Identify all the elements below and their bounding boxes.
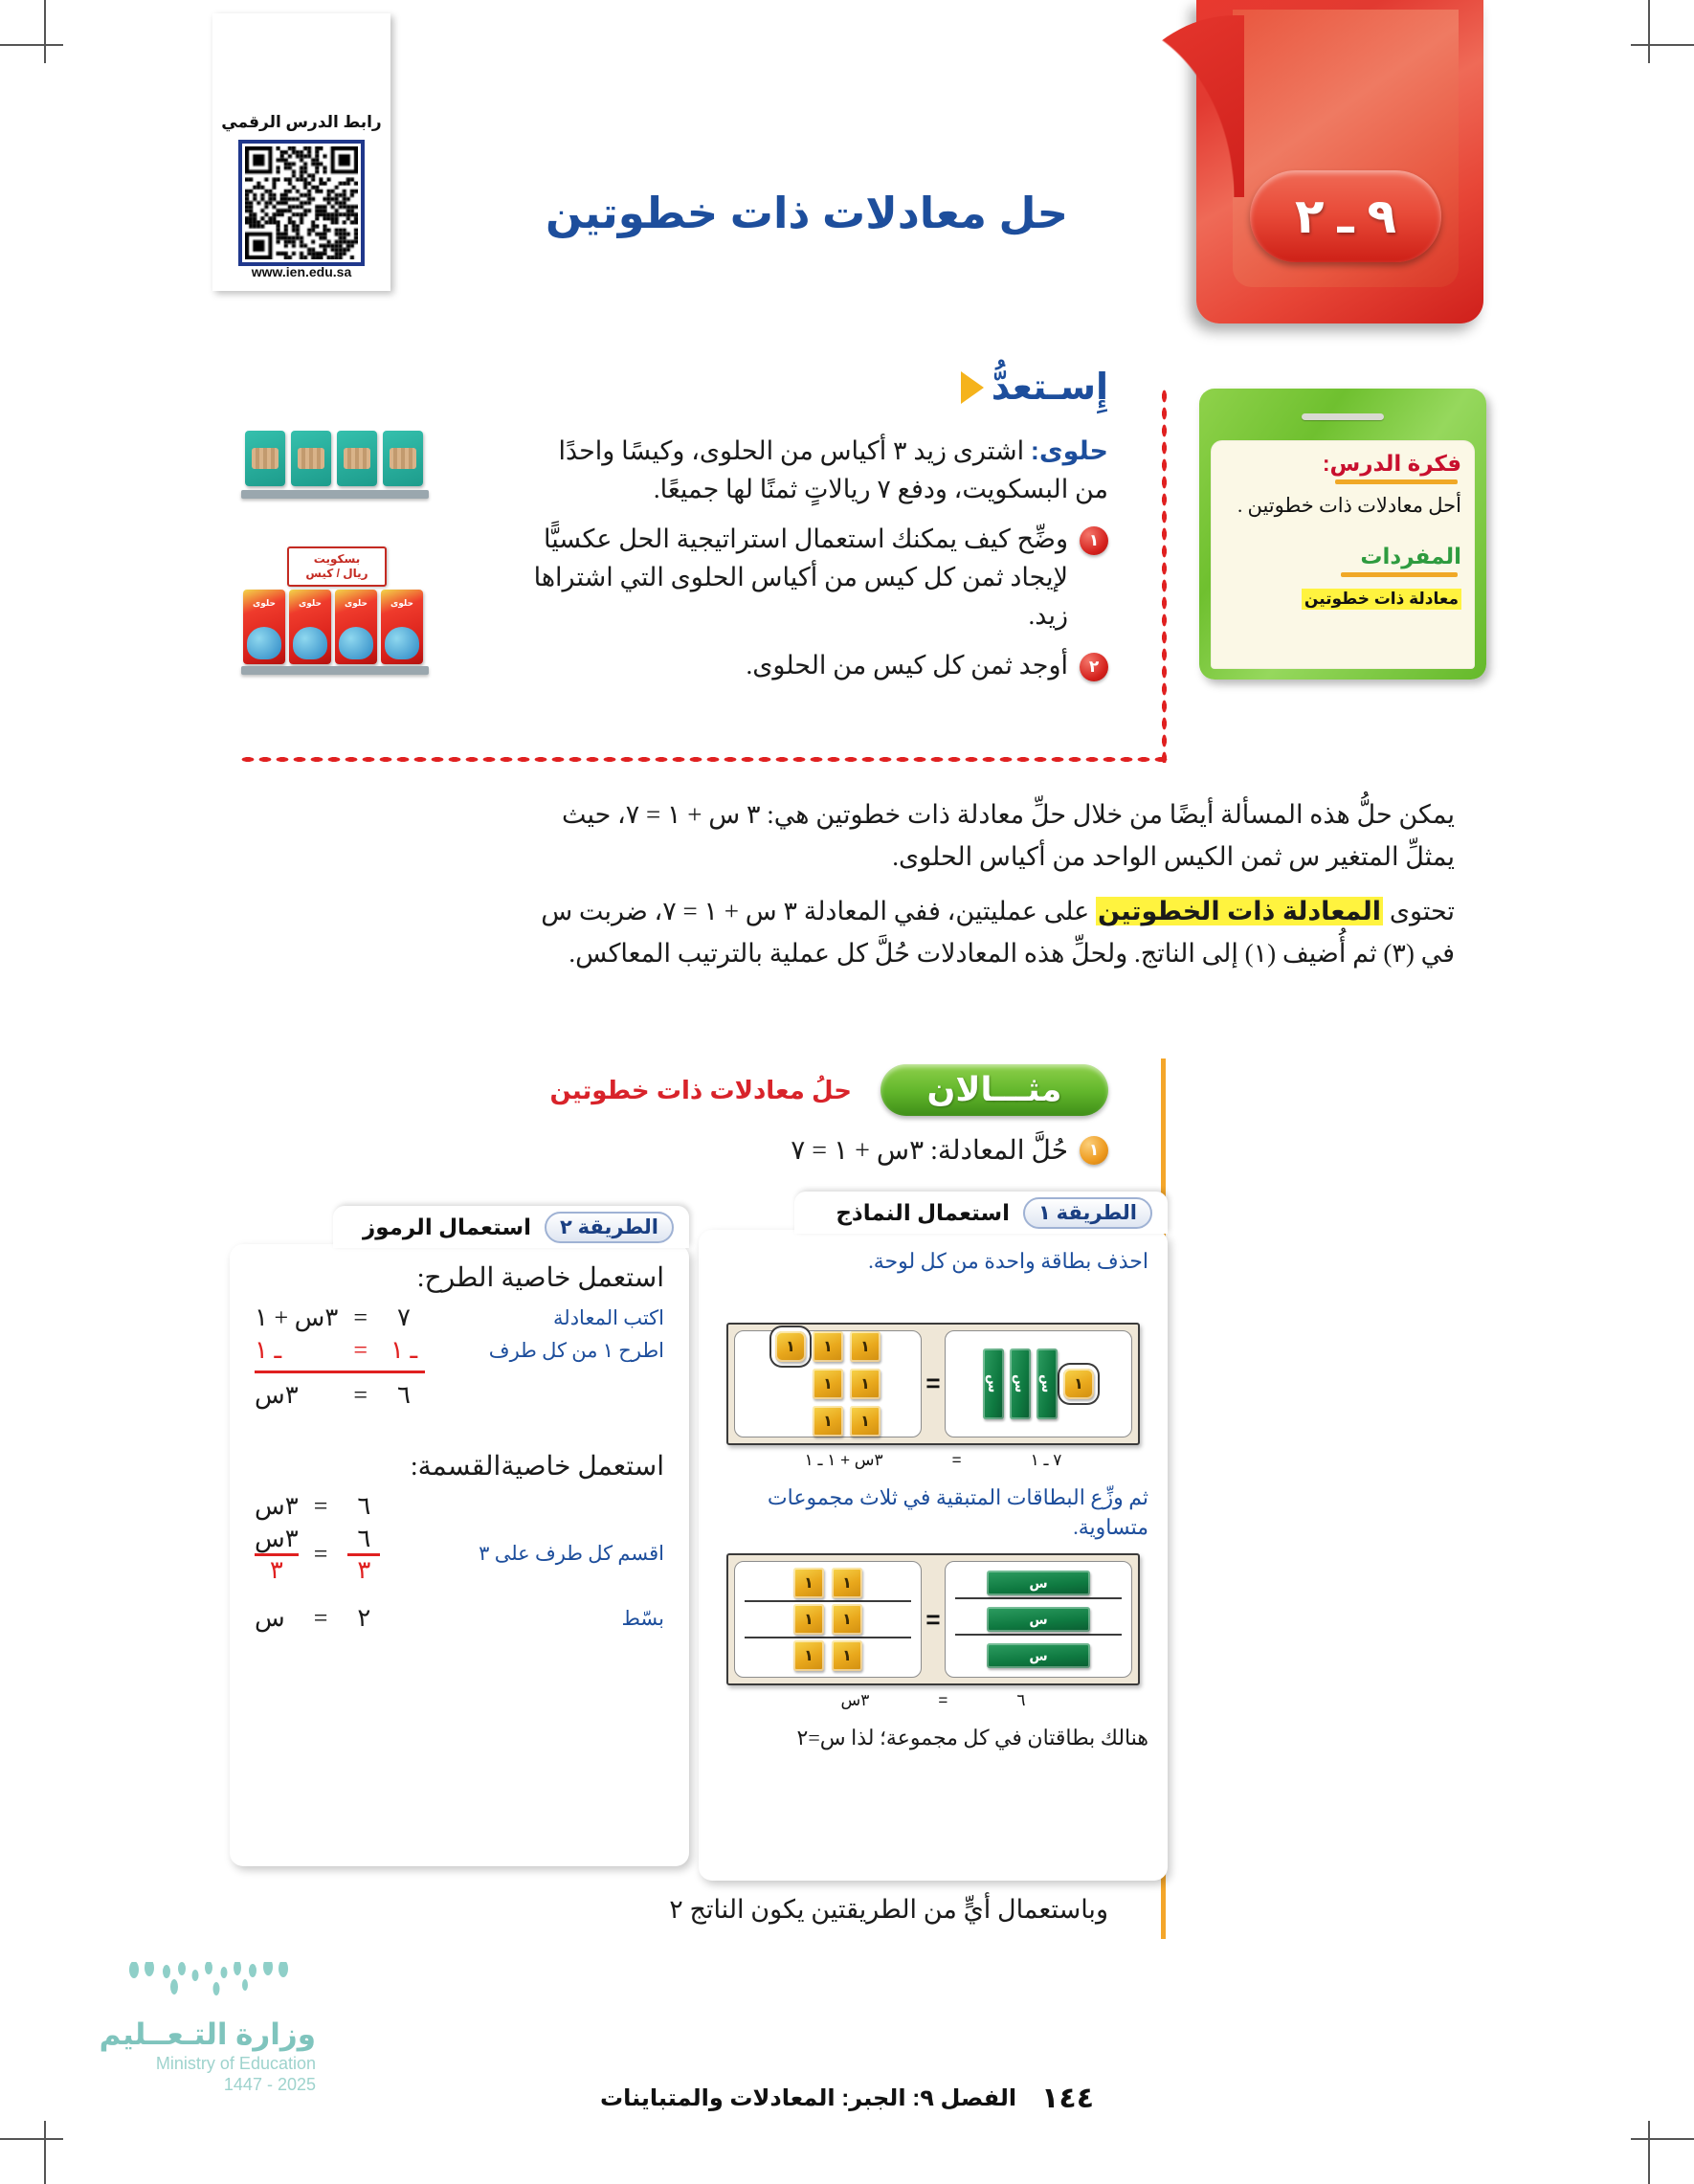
question-bullet-2: ٢ [1080, 653, 1108, 681]
get-ready-title: إِسـتعدُّ [992, 366, 1108, 409]
highlighted-term: المعادلة ذات الخطوتين [1096, 897, 1383, 925]
variable-bar: س [983, 1348, 1004, 1419]
board-2-caption-eq: = [938, 1691, 947, 1710]
board-2-variable-row: س [955, 1569, 1122, 1599]
method-1-tab[interactable]: الطريقة ١ استعمال النماذج [794, 1192, 1168, 1234]
digital-lesson-qr-card: رابط الدرس الرقمي www.ien.edu.sa [212, 13, 390, 291]
lesson-body: يمكن حلُّ هذه المسألة أيضًا من خلال حلِّ… [526, 794, 1455, 989]
step-note: بسّط [400, 1590, 664, 1631]
board-1-caption: ٧ ـ ١ = ٣س + ١ ـ ١ [718, 1451, 1148, 1470]
step-op: = [353, 1381, 368, 1410]
page-title: حل معادلات ذات خطوتين [546, 188, 1081, 238]
step-rhs: ٦ [383, 1381, 425, 1410]
subtraction-steps: اكتب المعادلة ٧ = ٣س + ١ اطرح ١ من كل طر… [255, 1304, 664, 1410]
variable-bar: س [1010, 1348, 1031, 1419]
crop-mark-bottom-right [1648, 2121, 1650, 2184]
method-2-tab[interactable]: الطريقة ٢ استعمال الرموز [333, 1206, 689, 1248]
vocabulary-heading: المفردات [1224, 544, 1461, 569]
problem-text: اشترى زيد ٣ أكياس من الحلوى، وكيسًا واحد… [558, 436, 1108, 503]
vocabulary-underline [1341, 572, 1458, 577]
method-1-title: استعمال النماذج [836, 1200, 1010, 1226]
question-text-2: أوجد ثمن كل كيس من الحلوى. [524, 647, 1068, 685]
method-1-note-2: ثم وزِّع البطاقات المتبقية في ثلاث مجموع… [718, 1483, 1148, 1543]
board-2-equals: = [925, 1605, 940, 1635]
board-2-caption: ٦ = ٣س [718, 1691, 1148, 1710]
board-2-caption-right: ٣س [841, 1691, 870, 1710]
method-1-pill: الطريقة ١ [1023, 1197, 1152, 1229]
question-bullet-1: ١ [1080, 526, 1108, 555]
problem-label: حلوى: [1031, 436, 1108, 465]
get-ready-question-1: ١ وضِّح كيف يمكنك استعمال استراتيجية الح… [524, 521, 1108, 635]
board-1-unit-grid: ١ ١ ١ ١ ١ ١ ١ [775, 1331, 880, 1437]
step-note: اطرح ١ من كل طرف [440, 1339, 664, 1363]
method-1-content: احذف بطاقة واحدة من كل لوحة. ١ س س س = [699, 1230, 1168, 1881]
biscuit-pack [245, 431, 285, 486]
example-1-row: ١ حُلَّ المعادلة: ٣س + ١ = ٧ [791, 1134, 1108, 1167]
step-op: = [353, 1336, 368, 1365]
vocabulary-term: معادلة ذات خطوتين [1302, 589, 1461, 610]
crop-mark-bottom-right-h [1631, 2138, 1694, 2140]
step-lhs-fraction: ٣س ٣ [255, 1525, 299, 1583]
division-steps: ٦ = ٣س اقسم كل طرف على ٣ ٦ ٣ = ٣س ٣ بسّط [255, 1492, 664, 1633]
unit-tile-circled: ١ [775, 1331, 806, 1362]
examples-pill-label: مثـــالان [927, 1071, 1062, 1109]
para2-pre: تحتوى [1383, 897, 1455, 925]
step-rhs: ٦ [343, 1492, 385, 1521]
example-1-bullet: ١ [1080, 1136, 1108, 1165]
balance-board-2: س س س = ١ ١ ١ ١ ١ ١ [726, 1553, 1140, 1685]
question-text-1: وضِّح كيف يمكنك استعمال استراتيجية الحل … [524, 521, 1068, 635]
board-2-caption-left: ٦ [1016, 1691, 1025, 1710]
step-rule [255, 1371, 425, 1373]
candy-bag-label: حلوى [390, 598, 413, 609]
unit-tile: ١ [793, 1604, 824, 1635]
get-ready-content: حلوى: اشترى زيد ٣ أكياس من الحلوى، وكيسً… [524, 433, 1108, 685]
biscuit-pack [291, 431, 331, 486]
board-1-variable-pane: ١ س س س [945, 1330, 1132, 1437]
step-rhs: ٢ [343, 1587, 385, 1633]
board-1-equals: = [925, 1369, 940, 1398]
variable-bar: س [987, 1607, 1090, 1632]
board-2-variable-pane: س س س [945, 1561, 1132, 1678]
lesson-number: ٩ ـ ٢ [1295, 189, 1396, 244]
final-conclusion: وباستعمال أيٍّ من الطريقتين يكون الناتج … [524, 1895, 1108, 1925]
ministry-name-arabic: وزارة التـعــليم [96, 2017, 316, 2052]
body-paragraph-2: تحتوى المعادلة ذات الخطوتين على عمليتين،… [526, 891, 1455, 974]
ministry-name-english: Ministry of Education [96, 2054, 316, 2074]
unit-tile: ١ [850, 1369, 880, 1399]
step-op: = [314, 1540, 328, 1569]
shelf-bar [241, 666, 429, 675]
examples-pill: مثـــالان [880, 1064, 1108, 1116]
step-op: = [314, 1587, 328, 1633]
crop-mark-top-left [44, 0, 46, 63]
lesson-number-badge: ٩ ـ ٢ [1250, 170, 1441, 262]
board-2-variable-row: س [955, 1605, 1122, 1636]
method-1-note-1: احذف بطاقة واحدة من كل لوحة. [718, 1247, 1148, 1277]
step-lhs: س [255, 1587, 299, 1633]
unit-tile: ١ [813, 1369, 843, 1399]
lesson-idea-heading: فكرة الدرس: [1224, 451, 1461, 477]
price-tag: بسكويت ريال / كيس [287, 546, 387, 587]
body-paragraph-1: يمكن حلُّ هذه المسألة أيضًا من خلال حلِّ… [526, 794, 1455, 878]
fraction-numerator: ٦ [357, 1527, 370, 1553]
shelf-bar [241, 490, 429, 499]
logo-dots-icon [96, 1962, 316, 2012]
unit-tile: ١ [832, 1568, 862, 1598]
subtraction-property-heading: استعمل خاصية الطرح: [255, 1261, 664, 1294]
division-property-heading: استعمل خاصيةالقسمة: [255, 1450, 664, 1482]
unit-tile-circled: ١ [1063, 1369, 1094, 1399]
qr-code[interactable] [238, 140, 365, 266]
board-2-unit-row: ١ ١ [745, 1602, 911, 1638]
method-2-content: استعمل خاصية الطرح: اكتب المعادلة ٧ = ٣س… [230, 1244, 689, 1633]
candy-bag: حلوى [243, 590, 285, 664]
crop-mark-bottom-left-h [0, 2138, 63, 2140]
page-number: ١٤٤ [1041, 2082, 1094, 2115]
lesson-header-banner: ٩ ـ ٢ [1081, 0, 1483, 330]
method-1-card: الطريقة ١ استعمال النماذج احذف بطاقة واح… [699, 1230, 1168, 1881]
step-lhs: ـ ١ [255, 1336, 338, 1365]
candy-bag: حلوى [289, 590, 331, 664]
get-ready-question-2: ٢ أوجد ثمن كل كيس من الحلوى. [524, 647, 1108, 685]
board-1-caption-left: ٧ ـ ١ [1031, 1451, 1062, 1470]
side-box-notch [1302, 413, 1384, 420]
method-2-card: الطريقة ٢ استعمال الرموز استعمل خاصية ال… [230, 1244, 689, 1866]
biscuit-pack [383, 431, 423, 486]
unit-tile: ١ [832, 1604, 862, 1635]
board-2-variable-row: س [955, 1641, 1122, 1670]
page-footer: ١٤٤ الفصل ٩: الجبر: المعادلات والمتباينا… [0, 2082, 1694, 2115]
price-tag-line2: ريال / كيس [305, 567, 368, 581]
variable-bar: س [987, 1571, 1090, 1595]
step-op: = [314, 1492, 328, 1521]
step-note: اكتب المعادلة [440, 1306, 664, 1330]
problem-statement: حلوى: اشترى زيد ٣ أكياس من الحلوى، وكيسً… [524, 433, 1108, 509]
qr-url: www.ien.edu.sa [212, 264, 390, 279]
unit-tile: ١ [832, 1640, 862, 1671]
unit-tile: ١ [793, 1568, 824, 1598]
variable-bar: س [987, 1643, 1090, 1668]
unit-tile: ١ [850, 1331, 880, 1362]
method-1-conclusion: هنالك بطاقتان في كل مجموعة؛ لذا س=٢ [718, 1726, 1148, 1750]
dotted-divider-horizontal [239, 756, 1168, 763]
biscuit-pack [337, 431, 377, 486]
lesson-info-box: فكرة الدرس: أحل معادلات ذات خطوتين . الم… [1199, 389, 1486, 680]
balance-board-1: ١ س س س = ١ ١ ١ ١ ١ ١ ١ [726, 1323, 1140, 1445]
crop-mark-bottom-left [44, 2121, 46, 2184]
board-2-unit-row: ١ ١ [745, 1638, 911, 1673]
step-rhs: ـ ١ [383, 1336, 425, 1365]
step-rhs-fraction: ٦ ٣ [343, 1525, 385, 1583]
price-tag-line1: بسكويت [314, 552, 360, 567]
step-lhs: ٣س [255, 1381, 338, 1410]
unit-tile: ١ [793, 1640, 824, 1671]
qr-code-canvas [245, 146, 358, 259]
method-2-title: استعمال الرموز [363, 1215, 531, 1240]
candy-bag-label: حلوى [299, 598, 322, 609]
fraction-denominator: ٣ [357, 1556, 370, 1583]
step-lhs: ٣س + ١ [255, 1304, 338, 1332]
unit-tile: ١ [850, 1406, 880, 1437]
board-2-unit-pane: ١ ١ ١ ١ ١ ١ [734, 1561, 922, 1678]
step-op: = [353, 1304, 368, 1332]
examples-header: مثـــالان حلُ معادلات ذات خطوتين [549, 1064, 1108, 1116]
chapter-label: الفصل ٩: الجبر: المعادلات والمتباينات [600, 2084, 1016, 2112]
examples-subtitle: حلُ معادلات ذات خطوتين [549, 1076, 852, 1105]
candy-bag-label: حلوى [253, 598, 276, 609]
get-ready-header: إِسـتعدُّ [961, 366, 1108, 409]
header-curve-decoration [1091, 15, 1244, 197]
fraction-denominator: ٣ [270, 1556, 283, 1583]
candy-shelf-illustration: بسكويت ريال / كيس حلوى حلوى حلوى حلوى [241, 421, 429, 689]
method-2-pill: الطريقة ٢ [545, 1212, 674, 1243]
board-1-caption-eq: = [952, 1451, 962, 1470]
crop-mark-top-right [1648, 0, 1650, 63]
dotted-divider-vertical [1161, 388, 1168, 763]
idea-underline [1335, 479, 1458, 484]
board-1-unit-pane: ١ ١ ١ ١ ١ ١ ١ [734, 1330, 922, 1437]
crop-mark-top-left-h [0, 44, 63, 46]
board-2-unit-row: ١ ١ [745, 1566, 911, 1602]
triangle-arrow-icon [961, 371, 984, 404]
example-1-text: حُلَّ المعادلة: ٣س + ١ = ٧ [791, 1134, 1068, 1167]
crop-mark-top-right-h [1631, 44, 1694, 46]
candy-bag-label: حلوى [345, 598, 368, 609]
side-box-paper: فكرة الدرس: أحل معادلات ذات خطوتين . الم… [1211, 440, 1475, 669]
step-lhs: ٣س [255, 1492, 299, 1521]
qr-label: رابط الدرس الرقمي [212, 113, 390, 132]
step-note: اقسم كل طرف على ٣ [400, 1542, 664, 1566]
candy-bag: حلوى [335, 590, 377, 664]
board-1-caption-right: ٣س + ١ ـ ١ [805, 1451, 883, 1470]
fraction-numerator: ٣س [255, 1527, 299, 1553]
candy-bag: حلوى [381, 590, 423, 664]
unit-tile: ١ [813, 1331, 843, 1362]
variable-bar: س [1036, 1348, 1058, 1419]
step-rhs: ٧ [383, 1304, 425, 1332]
unit-tile: ١ [813, 1406, 843, 1437]
lesson-idea-text: أحل معادلات ذات خطوتين . [1224, 492, 1461, 519]
